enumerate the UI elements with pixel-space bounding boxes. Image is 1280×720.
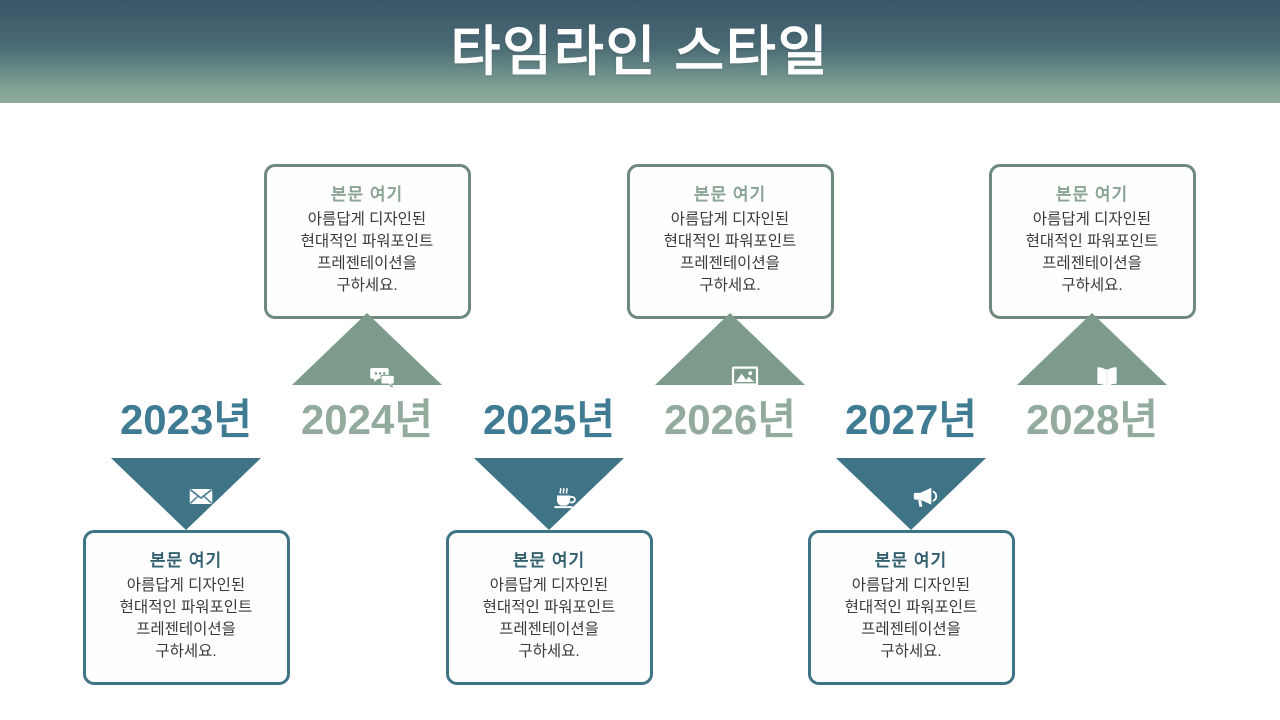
milestone-card-2026[interactable]: 본문 여기아름답게 디자인된 현대적인 파워포인트 프레젠테이션을 구하세요.	[627, 164, 834, 319]
year-label-2025[interactable]: 2025년	[454, 399, 644, 441]
milestone-card-2028[interactable]: 본문 여기아름답게 디자인된 현대적인 파워포인트 프레젠테이션을 구하세요.	[989, 164, 1196, 319]
milestone-card-2024[interactable]: 본문 여기아름답게 디자인된 현대적인 파워포인트 프레젠테이션을 구하세요.	[264, 164, 471, 319]
year-label-2024[interactable]: 2024년	[272, 399, 462, 441]
card-body-text: 아름답게 디자인된 현대적인 파워포인트 프레젠테이션을 구하세요.	[120, 575, 253, 663]
card-body-text: 아름답게 디자인된 현대적인 파워포인트 프레젠테이션을 구하세요.	[845, 575, 978, 663]
milestone-pointer-2023	[111, 458, 261, 530]
milestone-pointer-2028	[1017, 313, 1167, 385]
milestone-pointer-2026	[655, 313, 805, 385]
card-heading: 본문 여기	[1056, 184, 1128, 207]
header-banner: 타임라인 스타일	[0, 0, 1280, 103]
card-heading: 본문 여기	[331, 184, 403, 207]
milestone-pointer-2024	[292, 313, 442, 385]
year-label-2023[interactable]: 2023년	[91, 399, 281, 441]
card-body-text: 아름답게 디자인된 현대적인 파워포인트 프레젠테이션을 구하세요.	[483, 575, 616, 663]
milestone-card-2027[interactable]: 본문 여기아름답게 디자인된 현대적인 파워포인트 프레젠테이션을 구하세요.	[808, 530, 1015, 685]
card-heading: 본문 여기	[694, 184, 766, 207]
milestone-card-2023[interactable]: 본문 여기아름답게 디자인된 현대적인 파워포인트 프레젠테이션을 구하세요.	[83, 530, 290, 685]
card-heading: 본문 여기	[875, 550, 947, 573]
page-title: 타임라인 스타일	[451, 25, 830, 79]
card-heading: 본문 여기	[513, 550, 585, 573]
milestone-pointer-2025	[474, 458, 624, 530]
card-body-text: 아름답게 디자인된 현대적인 파워포인트 프레젠테이션을 구하세요.	[664, 209, 797, 297]
year-label-2027[interactable]: 2027년	[816, 399, 1006, 441]
card-heading: 본문 여기	[150, 550, 222, 573]
year-label-2028[interactable]: 2028년	[997, 399, 1187, 441]
milestone-pointer-2027	[836, 458, 986, 530]
milestone-card-2025[interactable]: 본문 여기아름답게 디자인된 현대적인 파워포인트 프레젠테이션을 구하세요.	[446, 530, 653, 685]
timeline-stage: 본문 여기아름답게 디자인된 현대적인 파워포인트 프레젠테이션을 구하세요.2…	[0, 103, 1280, 720]
year-label-2026[interactable]: 2026년	[635, 399, 825, 441]
card-body-text: 아름답게 디자인된 현대적인 파워포인트 프레젠테이션을 구하세요.	[301, 209, 434, 297]
card-body-text: 아름답게 디자인된 현대적인 파워포인트 프레젠테이션을 구하세요.	[1026, 209, 1159, 297]
